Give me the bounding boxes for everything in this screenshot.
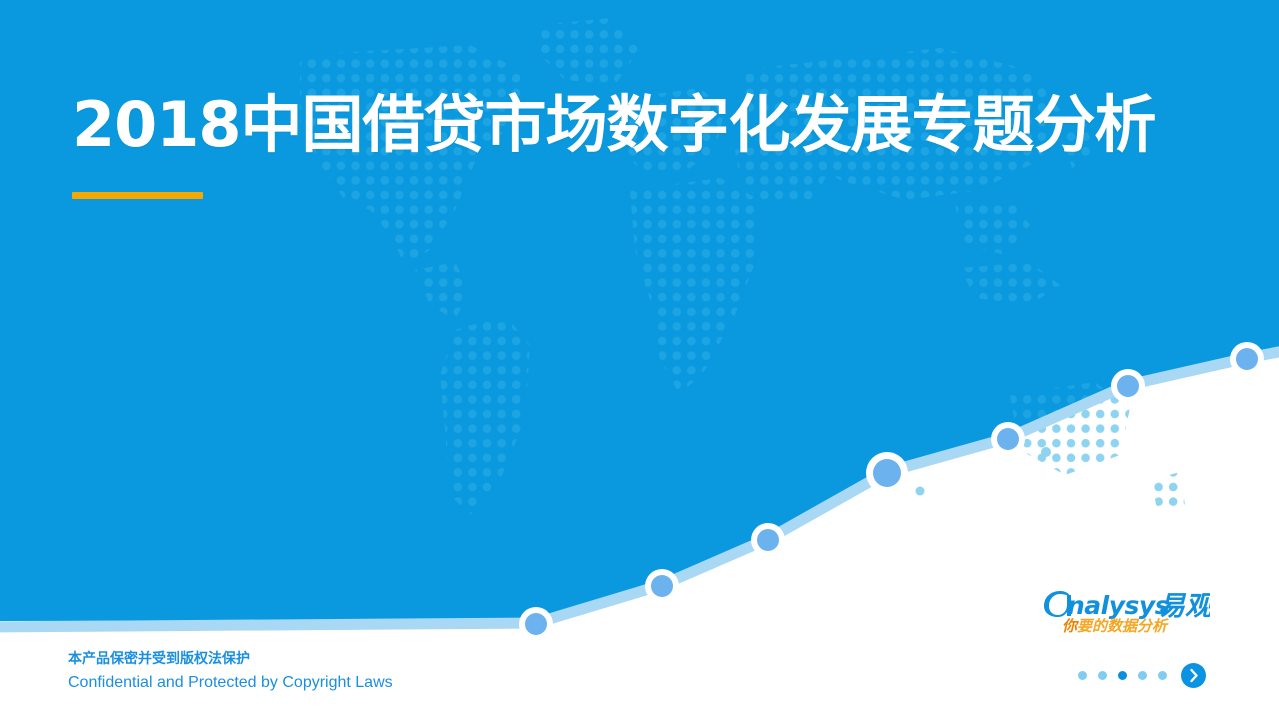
next-slide-button[interactable] xyxy=(1181,663,1206,688)
pager-dot-2[interactable] xyxy=(1098,671,1107,680)
pager-dot-3[interactable] xyxy=(1118,671,1127,680)
tagline-accent-char: 你 xyxy=(1062,617,1077,635)
title-underline-rule xyxy=(72,192,203,199)
page-title: 2018中国借贷市场数字化发展专题分析 xyxy=(72,86,1156,164)
pager-dot-5[interactable] xyxy=(1158,671,1167,680)
pager-dot-1[interactable] xyxy=(1078,671,1087,680)
copyright-chinese: 本产品保密并受到版权法保护 xyxy=(68,648,393,671)
tagline-rest: 要的数据分析 xyxy=(1077,617,1167,635)
analysys-wordmark: nalysys 易观 xyxy=(1040,586,1210,620)
analysys-tagline: 你要的数据分析 xyxy=(1062,616,1167,636)
copyright-english: Confidential and Protected by Copyright … xyxy=(68,671,393,695)
chevron-right-icon xyxy=(1181,663,1206,688)
copyright-footer: 本产品保密并受到版权法保护 Confidential and Protected… xyxy=(68,648,393,695)
slide-cover: 2018中国借贷市场数字化发展专题分析 本产品保密并受到版权法保护 Confid… xyxy=(0,0,1279,719)
analysys-logo: nalysys 易观 你要的数据分析 xyxy=(1040,586,1210,642)
pager-dot-4[interactable] xyxy=(1138,671,1147,680)
slide-pagination[interactable] xyxy=(1078,664,1206,686)
